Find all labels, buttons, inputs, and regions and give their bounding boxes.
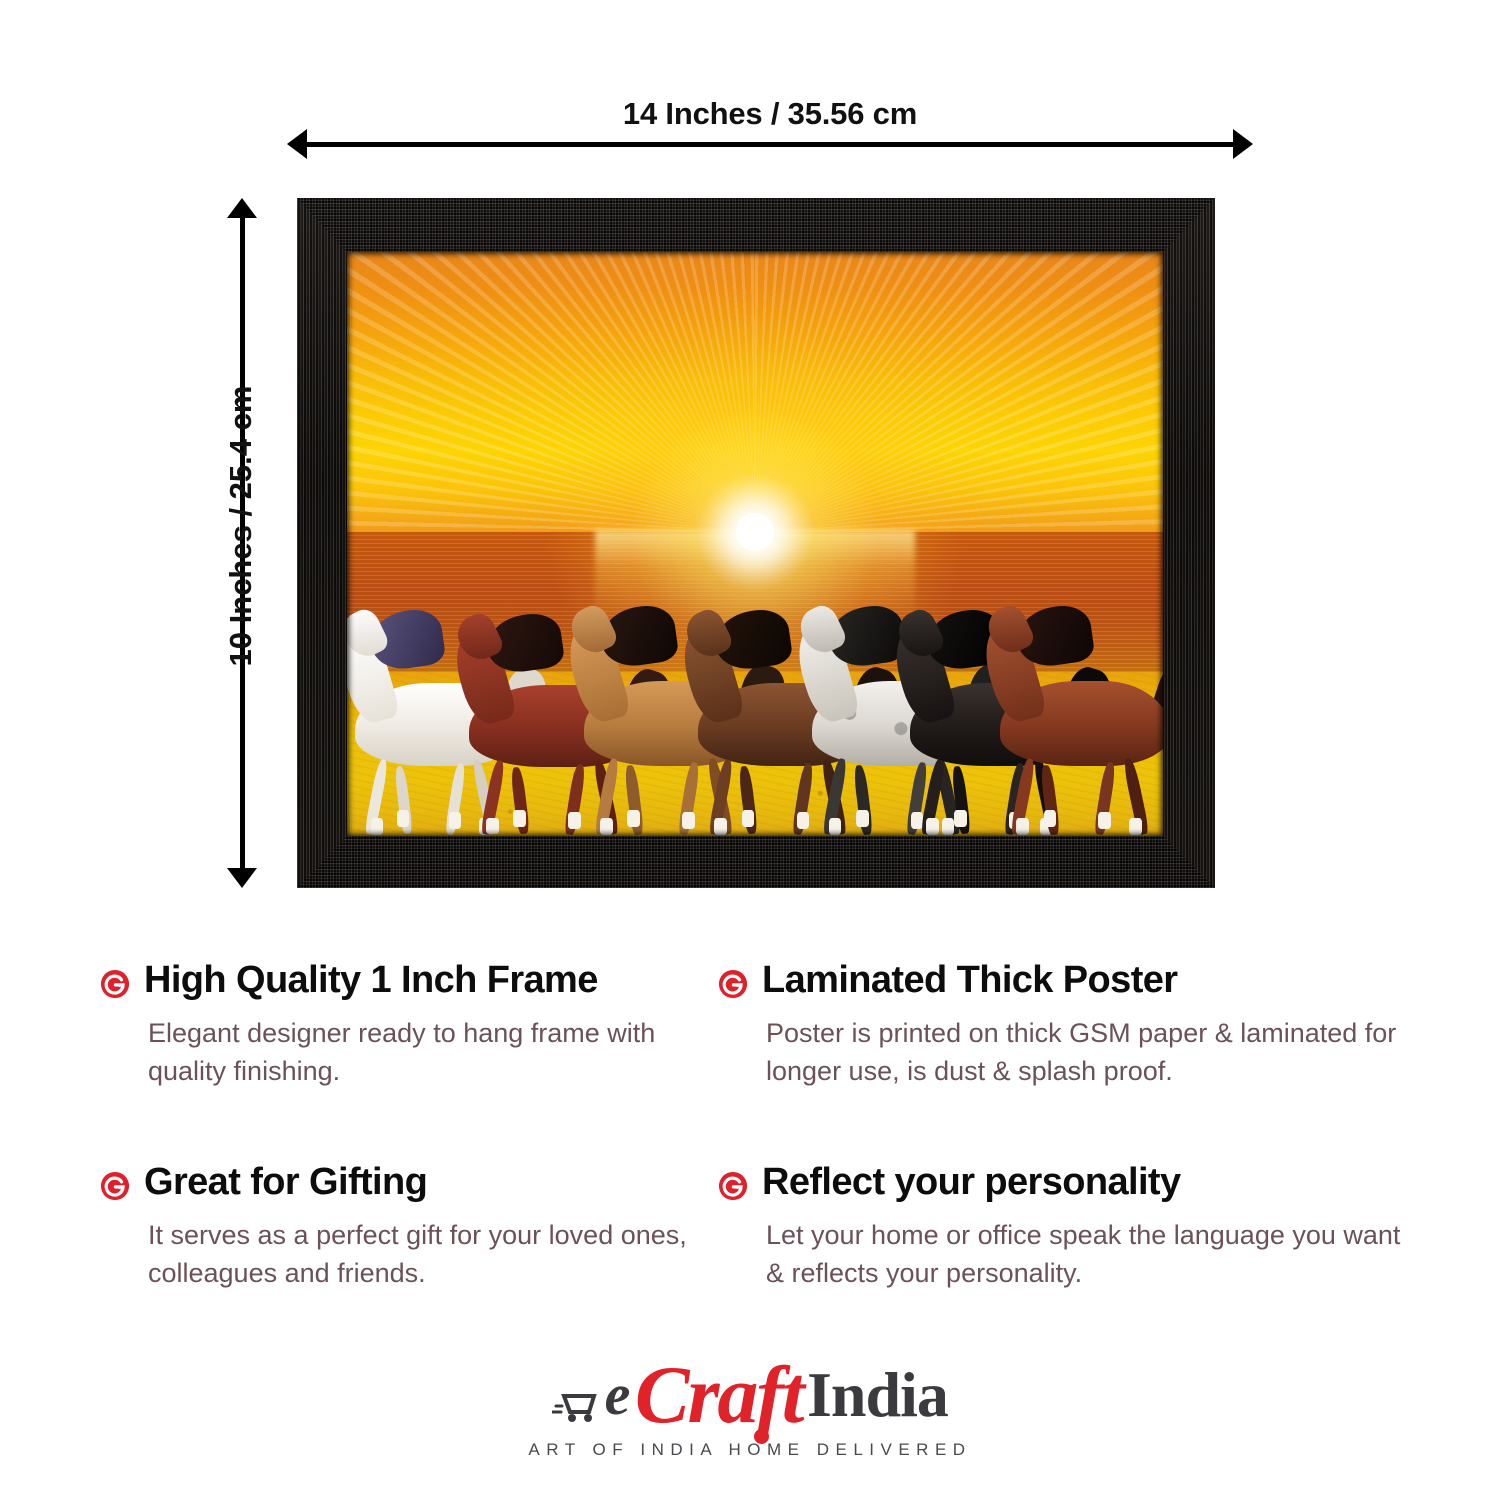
feature-heading: Great for Gifting — [100, 1162, 720, 1204]
feature-heading: Reflect your personality — [718, 1162, 1418, 1204]
feature-description: Poster is printed on thick GSM paper & l… — [766, 1014, 1406, 1091]
width-dimension-label: 14 Inches / 35.56 cm — [287, 96, 1253, 132]
height-dimension-annotation: 10 Inches / 25.4 cm — [196, 198, 258, 888]
logo-dot — [754, 1429, 769, 1444]
horse-hoof — [600, 818, 613, 835]
feature-item-great-for-gifting: Great for Gifting It serves as a perfect… — [100, 1162, 720, 1292]
horse-hoof — [682, 812, 695, 829]
horse-hoof — [856, 810, 869, 827]
horse-hoof — [371, 818, 383, 835]
logo-india: India — [807, 1359, 948, 1430]
horse-hoof — [1098, 812, 1111, 829]
feature-description: Elegant designer ready to hang frame wit… — [148, 1014, 720, 1091]
feature-heading: Laminated Thick Poster — [718, 960, 1418, 1002]
feature-title: High Quality 1 Inch Frame — [144, 960, 598, 1002]
horse-hoof — [942, 818, 955, 835]
horse-hoof — [397, 810, 409, 827]
ecraftindia-bullet-icon — [718, 969, 748, 999]
width-dimension-annotation: 14 Inches / 35.56 cm — [287, 96, 1253, 156]
feature-item-reflect-personality: Reflect your personality Let your home o… — [718, 1162, 1418, 1292]
feature-list: High Quality 1 Inch Frame Elegant design… — [0, 950, 1500, 1330]
ecraftindia-bullet-icon — [718, 1171, 748, 1201]
horse-hoof — [513, 810, 526, 827]
horse-hoof — [449, 812, 461, 829]
horse-hoof — [797, 812, 810, 829]
logo-e: e — [605, 1362, 631, 1427]
ecraftindia-bullet-icon — [100, 1171, 130, 1201]
brand-logo: e Craft India ART OF INDIA HOME DELIVERE… — [0, 1352, 1500, 1460]
arrow-right-icon — [1233, 129, 1253, 159]
horse-hoof — [568, 812, 581, 829]
feature-title: Laminated Thick Poster — [762, 960, 1177, 1002]
height-dimension-label: 10 Inches / 25.4 cm — [223, 181, 259, 871]
horse-hoof — [742, 810, 755, 827]
horse-bay — [1000, 623, 1163, 816]
horse-hoof — [486, 818, 499, 835]
horse-hoof — [1044, 810, 1057, 827]
horse-hoof — [1016, 818, 1029, 835]
shopping-cart-icon — [552, 1366, 606, 1424]
logo-wordmark: e Craft India — [552, 1352, 948, 1438]
horse-hoof — [954, 810, 967, 827]
horse-hoof — [1129, 818, 1142, 835]
horse-hoof — [714, 818, 727, 835]
horse-hoof — [829, 818, 842, 835]
logo-tagline: ART OF INDIA HOME DELIVERED — [0, 1440, 1500, 1460]
feature-description: It serves as a perfect gift for your lov… — [148, 1216, 720, 1293]
feature-item-high-quality-frame: High Quality 1 Inch Frame Elegant design… — [100, 960, 720, 1090]
feature-heading: High Quality 1 Inch Frame — [100, 960, 720, 1002]
feature-title: Great for Gifting — [144, 1162, 427, 1204]
horse-hoof — [926, 818, 939, 835]
poster-artwork-seven-horses — [347, 252, 1163, 836]
feature-description: Let your home or office speak the langua… — [766, 1216, 1406, 1293]
feature-item-laminated-poster: Laminated Thick Poster Poster is printed… — [718, 960, 1418, 1090]
ecraftindia-bullet-icon — [100, 969, 130, 999]
width-dimension-line — [301, 142, 1239, 147]
framed-poster-product — [297, 198, 1215, 888]
feature-title: Reflect your personality — [762, 1162, 1181, 1204]
horse-hoof — [627, 810, 640, 827]
logo-craft: Craft — [635, 1349, 803, 1440]
running-horses-group — [347, 497, 1163, 836]
arrow-down-icon — [227, 868, 257, 888]
